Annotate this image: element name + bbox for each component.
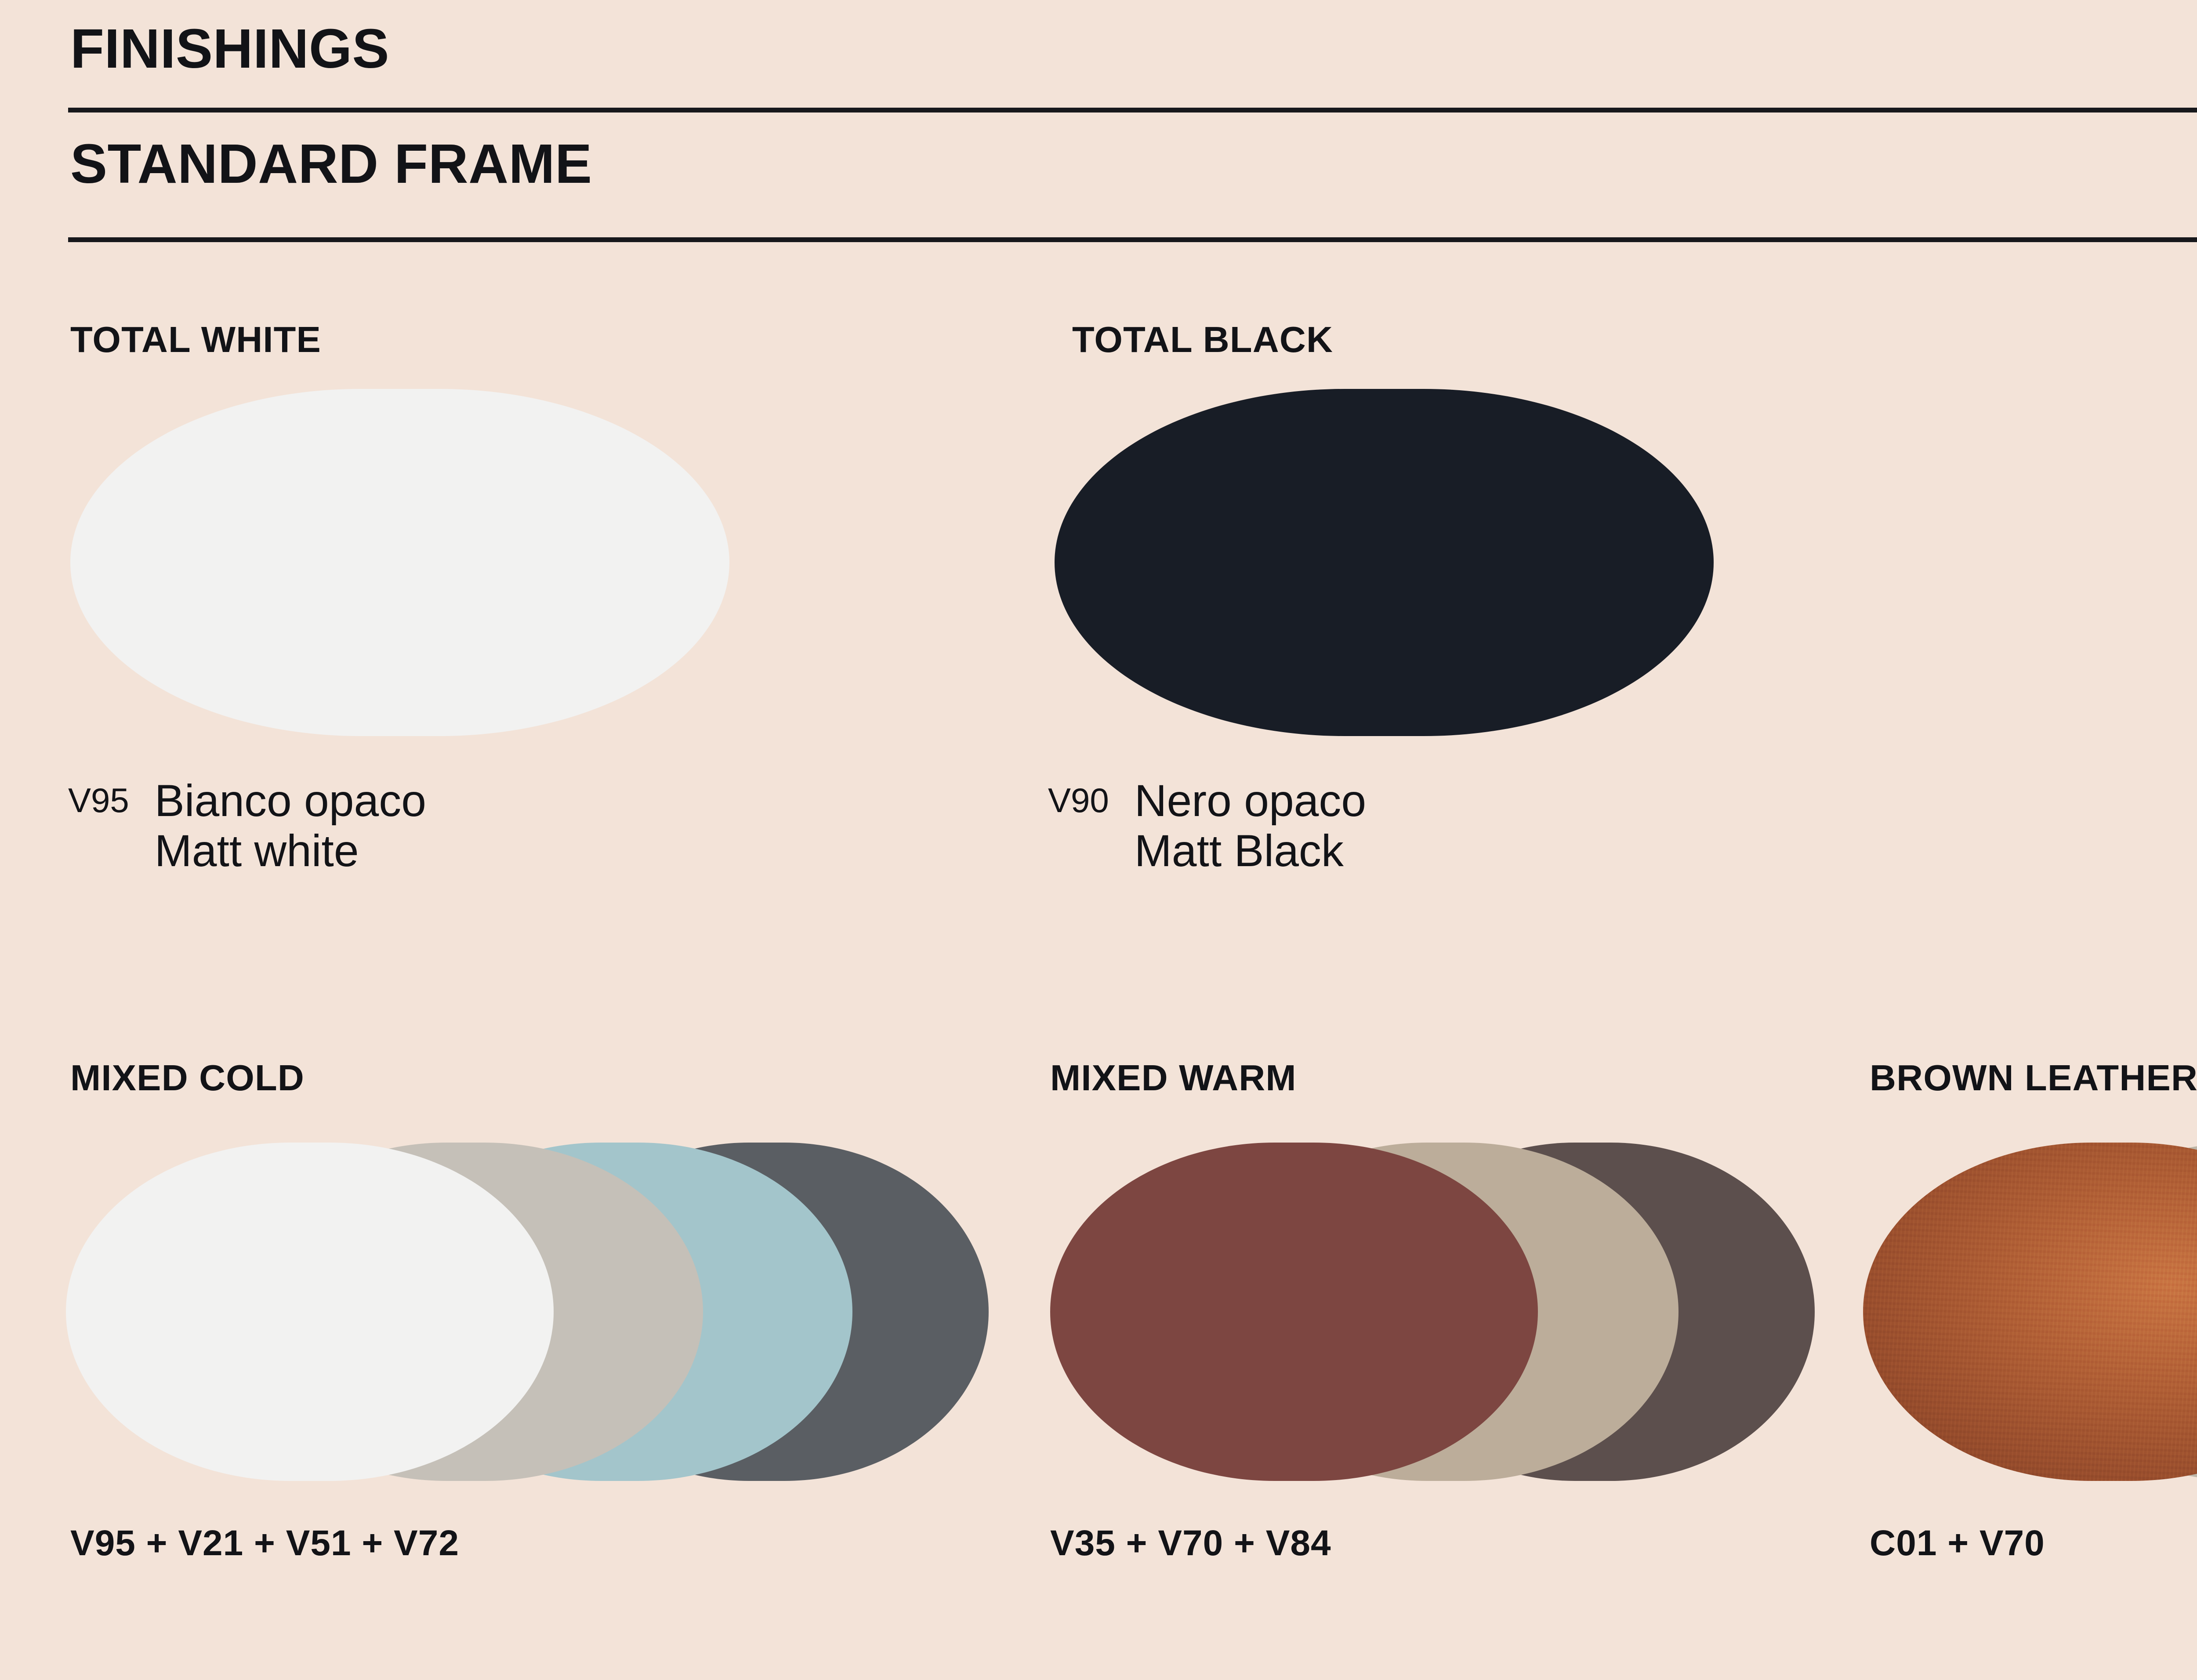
swatch-code-mixed-cold: V95 + V21 + V51 + V72: [70, 1523, 459, 1564]
caption-total-white: V95 Bianco opaco Matt white: [68, 776, 426, 876]
page-title-finishings: FINISHINGS: [70, 17, 389, 80]
group-label-mixed-cold: MIXED COLD: [70, 1057, 305, 1099]
swatch-names-total-white: Bianco opaco Matt white: [155, 776, 426, 876]
swatch-total-black[interactable]: [1055, 389, 1714, 736]
divider-top: [68, 108, 2197, 112]
section-title-standard-frame: STANDARD FRAME: [70, 132, 592, 196]
leather-grain-texture: [1863, 1143, 2197, 1481]
swatch-stack-brown-leather: [1863, 1143, 2197, 1481]
swatch-name-en-v90: Matt Black: [1135, 826, 1366, 876]
swatch-stack-mixed-cold: [66, 1143, 989, 1481]
swatch-brown-leather-c01[interactable]: [1863, 1143, 2197, 1481]
swatch-total-white[interactable]: [70, 389, 729, 736]
group-label-total-black: TOTAL BLACK: [1072, 319, 1333, 361]
group-label-mixed-warm: MIXED WARM: [1050, 1057, 1297, 1099]
group-label-brown-leather: BROWN LEATHER: [1870, 1057, 2197, 1099]
swatch-mixed-warm-v35[interactable]: [1050, 1143, 1538, 1481]
caption-total-black: V90 Nero opaco Matt Black: [1048, 776, 1366, 876]
swatch-code-v95: V95: [68, 776, 129, 820]
swatch-code-brown-leather: C01 + V70: [1870, 1523, 2045, 1564]
swatch-name-en-v95: Matt white: [155, 826, 426, 876]
group-label-total-white: TOTAL WHITE: [70, 319, 321, 361]
swatch-name-it-v95: Bianco opaco: [155, 776, 426, 826]
swatch-names-total-black: Nero opaco Matt Black: [1135, 776, 1366, 876]
swatch-stack-mixed-warm: [1050, 1143, 1815, 1481]
swatch-code-mixed-warm: V35 + V70 + V84: [1050, 1523, 1331, 1564]
finishings-page: FINISHINGS STANDARD FRAME TOTAL WHITE V9…: [0, 0, 2197, 1680]
swatch-mixed-cold-v95[interactable]: [66, 1143, 554, 1481]
divider-under-standard-frame: [68, 237, 2197, 242]
swatch-code-v90: V90: [1048, 776, 1109, 820]
swatch-name-it-v90: Nero opaco: [1135, 776, 1366, 826]
